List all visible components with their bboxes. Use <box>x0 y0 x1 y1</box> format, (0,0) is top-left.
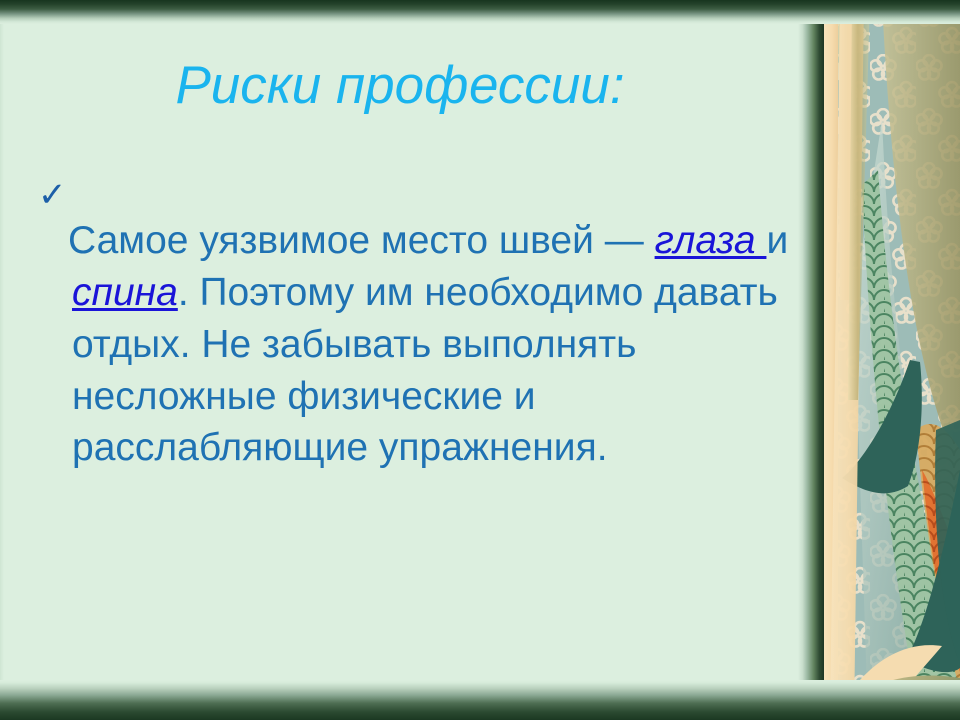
keyword-back: спина <box>72 271 178 314</box>
ornament-artwork <box>824 0 960 720</box>
slide-content: Риски профессии: ✓ Самое уязвимое место … <box>0 0 800 720</box>
kimono-fan-ornament <box>824 0 960 720</box>
bullet-tail-text: . Поэтому им необходимо давать отдых. Не… <box>72 271 778 470</box>
list-item: ✓ Самое уязвимое место швей — глаза и сп… <box>38 176 790 513</box>
frame-top-edge <box>0 0 960 24</box>
check-mark-icon: ✓ <box>38 178 72 212</box>
bullet-conjunction: и <box>766 219 788 262</box>
bullet-paragraph: Самое уязвимое место швей — глаза и спин… <box>72 215 790 474</box>
frame-left-edge <box>0 0 4 720</box>
bullet-lead-text: Самое уязвимое место швей — <box>68 219 655 262</box>
keyword-eyes: глаза <box>655 219 767 262</box>
panel-separator <box>798 0 824 720</box>
frame-bottom-edge <box>0 680 960 720</box>
body-text-block: ✓ Самое уязвимое место швей — глаза и сп… <box>38 176 790 513</box>
page-title: Риски профессии: <box>40 58 760 114</box>
slide: Риски профессии: ✓ Самое уязвимое место … <box>0 0 960 720</box>
